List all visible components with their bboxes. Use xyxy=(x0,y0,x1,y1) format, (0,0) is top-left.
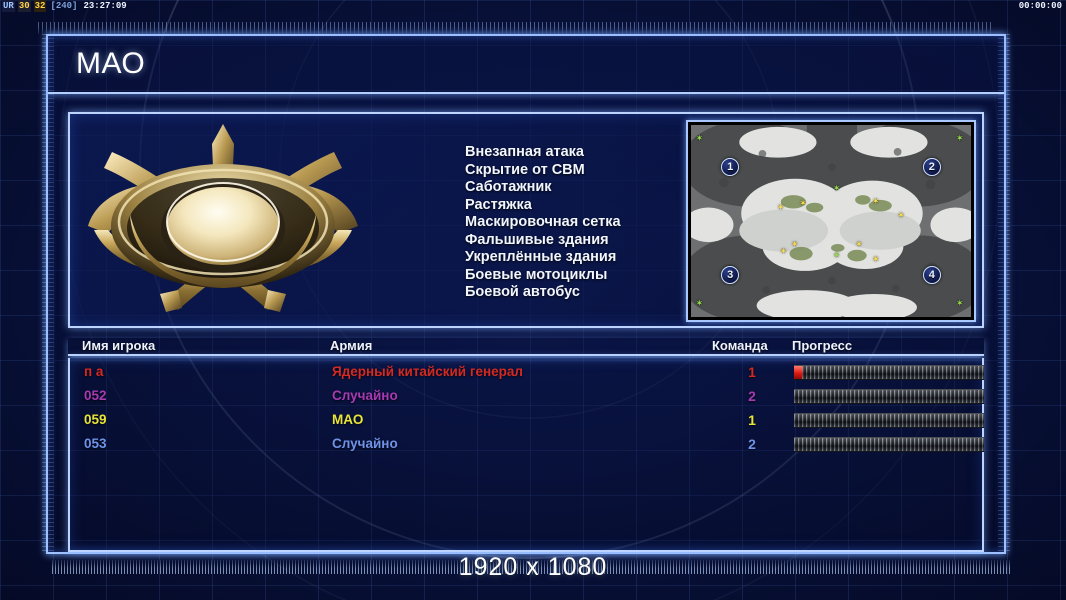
column-header-progress: Прогресс xyxy=(792,338,852,353)
minimap[interactable]: ✶✶✶✶✶✶✶✶✶✶✶✶✶✶1234 xyxy=(691,125,971,317)
progress-bar xyxy=(794,437,984,452)
supply-marker-icon: ✶ xyxy=(897,211,906,220)
insignia-icon xyxy=(74,118,372,318)
player-team: 1 xyxy=(742,364,762,380)
progress-bar xyxy=(794,389,984,404)
supply-marker-icon: ✶ xyxy=(832,184,841,193)
player-team: 2 xyxy=(742,436,762,452)
column-header-army: Армия xyxy=(330,338,372,353)
ability-item: Маскировочная сетка xyxy=(465,214,621,232)
ability-item: Укреплённые здания xyxy=(465,249,621,267)
supply-marker-icon: ✶ xyxy=(871,197,880,206)
general-emblem xyxy=(74,118,372,318)
ability-item: Боевой автобус xyxy=(465,284,621,302)
title-bar: МАО xyxy=(48,36,1004,94)
game-lobby-screen: UR 30 32 [240] 23:27:09 00:00:00 МАО xyxy=(0,0,1066,600)
ability-item: Растяжка xyxy=(465,197,621,215)
general-info-panel: Внезапная атака Скрытие от СВМ Саботажни… xyxy=(68,112,984,328)
player-army: МАО xyxy=(332,412,363,427)
progress-track xyxy=(794,366,984,379)
table-row[interactable]: п аЯдерный китайский генерал1 xyxy=(70,362,982,386)
player-name: 053 xyxy=(84,436,107,451)
column-header-team: Команда xyxy=(712,338,768,353)
ability-list: Внезапная атака Скрытие от СВМ Саботажни… xyxy=(465,144,621,302)
player-army: Случайно xyxy=(332,388,398,403)
start-position-marker[interactable]: 2 xyxy=(923,158,941,176)
supply-marker-icon: ✶ xyxy=(832,251,841,260)
progress-track xyxy=(794,390,984,403)
table-row[interactable]: 059МАО1 xyxy=(70,410,982,434)
hud-tag: UR xyxy=(2,0,15,12)
ability-item: Саботажник xyxy=(465,179,621,197)
resolution-label: 1920 x 1080 xyxy=(0,553,1066,582)
table-row[interactable]: 052Случайно2 xyxy=(70,386,982,410)
table-row[interactable]: 053Случайно2 xyxy=(70,434,982,458)
progress-bar xyxy=(794,413,984,428)
hud-timer: 00:00:00 xyxy=(1019,0,1062,12)
player-name: п а xyxy=(84,364,103,379)
player-name: 059 xyxy=(84,412,107,427)
hud-value-2: 32 xyxy=(34,0,47,12)
player-army: Ядерный китайский генерал xyxy=(332,364,523,379)
player-name: 052 xyxy=(84,388,107,403)
progress-track xyxy=(794,414,984,427)
hud-stats: UR 30 32 [240] 23:27:09 xyxy=(2,0,127,12)
supply-marker-icon: ✶ xyxy=(855,240,864,249)
supply-marker-icon: ✶ xyxy=(695,134,704,143)
hud-value-3: [240] xyxy=(49,0,78,12)
column-header-player: Имя игрока xyxy=(82,338,155,353)
page-title: МАО xyxy=(76,47,145,81)
progress-fill xyxy=(794,366,802,379)
ability-item: Внезапная атака xyxy=(465,144,621,162)
supply-marker-icon: ✶ xyxy=(695,299,704,308)
progress-track xyxy=(794,438,984,451)
player-table-header: Имя игрока Армия Команда Прогресс xyxy=(68,338,984,356)
player-team: 1 xyxy=(742,412,762,428)
player-team: 2 xyxy=(742,388,762,404)
ruler-top xyxy=(38,22,992,34)
supply-marker-icon: ✶ xyxy=(779,247,788,256)
hud-value-1: 30 xyxy=(18,0,31,12)
ability-item: Скрытие от СВМ xyxy=(465,162,621,180)
start-position-marker[interactable]: 3 xyxy=(721,266,739,284)
supply-marker-icon: ✶ xyxy=(871,255,880,264)
minimap-frame[interactable]: ✶✶✶✶✶✶✶✶✶✶✶✶✶✶1234 xyxy=(686,120,976,322)
supply-marker-icon: ✶ xyxy=(776,203,785,212)
supply-marker-icon: ✶ xyxy=(799,199,808,208)
supply-marker-icon: ✶ xyxy=(790,240,799,249)
progress-bar xyxy=(794,365,984,380)
start-position-marker[interactable]: 4 xyxy=(923,266,941,284)
supply-marker-icon: ✶ xyxy=(955,299,964,308)
hud-clock: 23:27:09 xyxy=(81,0,126,12)
top-hud-bar: UR 30 32 [240] 23:27:09 00:00:00 xyxy=(0,0,1066,12)
player-army: Случайно xyxy=(332,436,398,451)
supply-marker-icon: ✶ xyxy=(955,134,964,143)
player-table: п аЯдерный китайский генерал1052Случайно… xyxy=(68,358,984,552)
minimap-terrain xyxy=(691,125,971,317)
ability-item: Фальшивые здания xyxy=(465,232,621,250)
ability-item: Боевые мотоциклы xyxy=(465,267,621,285)
